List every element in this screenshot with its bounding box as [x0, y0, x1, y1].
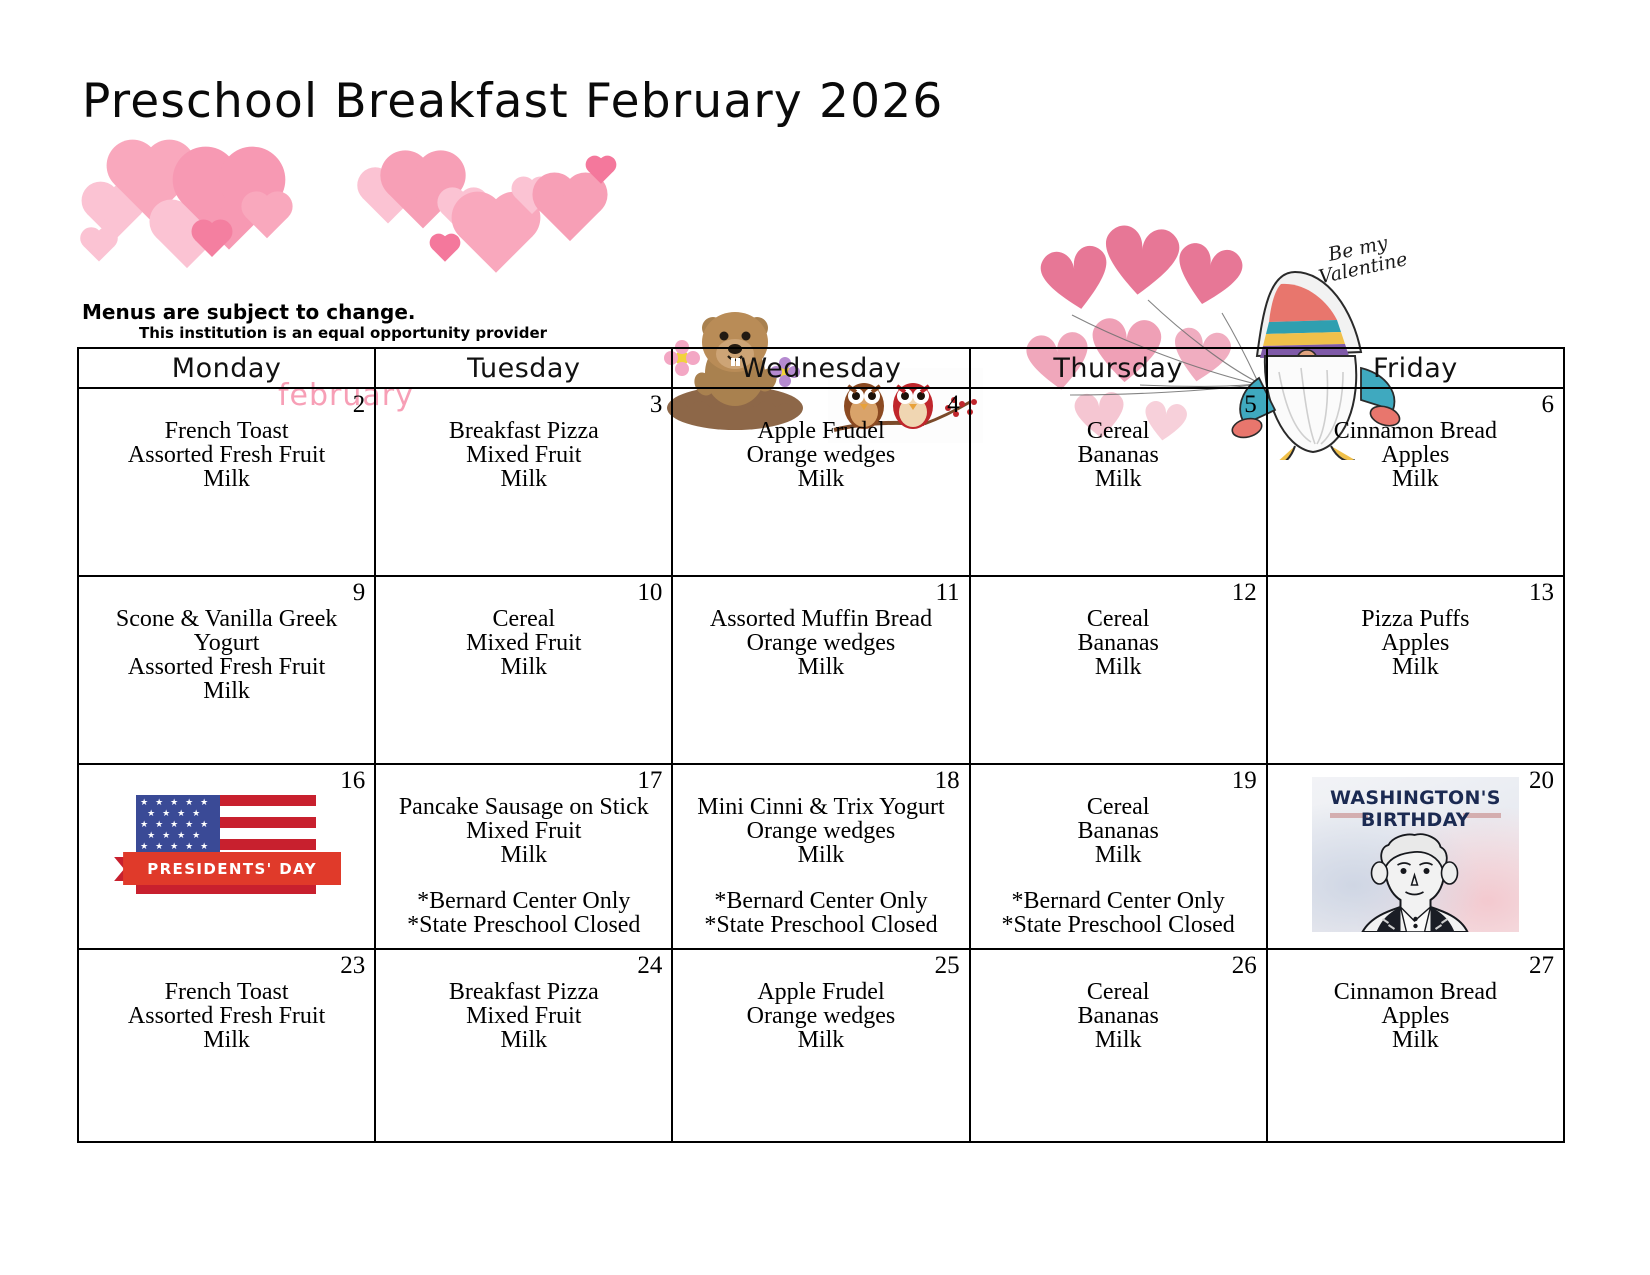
day-cell: 11 Assorted Muffin Bread Orange wedges M… — [672, 576, 969, 764]
column-header-thursday: Thursday — [970, 348, 1267, 388]
decorative-header-band: february — [0, 140, 1650, 300]
day-menu: Breakfast Pizza Mixed Fruit Milk — [384, 980, 663, 1052]
day-number: 9 — [353, 579, 366, 607]
day-menu: Assorted Muffin Bread Orange wedges Milk — [681, 607, 960, 679]
day-menu: French Toast Assorted Fresh Fruit Milk — [87, 419, 366, 491]
day-number: 10 — [637, 579, 662, 607]
calendar-header-row: Monday Tuesday Wednesday Thursday Friday — [78, 348, 1564, 388]
washington-title-line-1: WASHINGTON'S — [1330, 787, 1501, 809]
column-header-wednesday: Wednesday — [672, 348, 969, 388]
page-title: Preschool Breakfast February 2026 — [82, 74, 943, 129]
menus-subject-to-change-notice: Menus are subject to change. — [82, 300, 416, 324]
day-cell: 9 Scone & Vanilla Greek Yogurt Assorted … — [78, 576, 375, 764]
day-number: 18 — [935, 767, 960, 795]
day-number: 19 — [1232, 767, 1257, 795]
day-menu: Cereal Bananas Milk — [979, 419, 1258, 491]
day-number: 3 — [650, 391, 663, 419]
calendar-week-row: 9 Scone & Vanilla Greek Yogurt Assorted … — [78, 576, 1564, 764]
day-cell: 19 Cereal Bananas Milk *Bernard Center O… — [970, 764, 1267, 949]
day-number: 24 — [637, 952, 662, 980]
day-cell: 20 WASHINGTON'S BIRTHDAY — [1267, 764, 1564, 949]
menu-calendar-table: Monday Tuesday Wednesday Thursday Friday… — [77, 347, 1565, 1143]
notice-row: Menus are subject to change. This instit… — [82, 300, 842, 343]
washingtons-birthday-graphic: WASHINGTON'S BIRTHDAY — [1312, 777, 1519, 932]
day-number: 27 — [1529, 952, 1554, 980]
day-menu: Cereal Bananas Milk — [979, 795, 1258, 867]
day-menu: Apple Frudel Orange wedges Milk — [681, 419, 960, 491]
day-menu: Cinnamon Bread Apples Milk — [1276, 980, 1555, 1052]
day-number: 26 — [1232, 952, 1257, 980]
day-number: 23 — [340, 952, 365, 980]
equal-opportunity-notice: This institution is an equal opportunity… — [139, 324, 547, 342]
day-menu: Apple Frudel Orange wedges Milk — [681, 980, 960, 1052]
day-cell: 24 Breakfast Pizza Mixed Fruit Milk — [375, 949, 672, 1142]
day-cell: 12 Cereal Bananas Milk — [970, 576, 1267, 764]
day-menu: Cinnamon Bread Apples Milk — [1276, 419, 1555, 491]
day-number: 12 — [1232, 579, 1257, 607]
day-menu: Cereal Bananas Milk — [979, 980, 1258, 1052]
column-header-tuesday: Tuesday — [375, 348, 672, 388]
day-number: 2 — [353, 391, 366, 419]
day-cell: 16 ★★ ★★ ★ ★★ — [78, 764, 375, 949]
day-notes: *Bernard Center Only *State Preschool Cl… — [384, 889, 663, 937]
day-cell: 2 French Toast Assorted Fresh Fruit Milk — [78, 388, 375, 576]
day-cell: 25 Apple Frudel Orange wedges Milk — [672, 949, 969, 1142]
us-flag-icon: ★★ ★★ ★ ★★ ★★ ★★ ★★ ★ ★★ ★★ ★★ — [136, 795, 316, 891]
george-washington-portrait-icon — [1353, 829, 1478, 932]
day-cell: 5 Cereal Bananas Milk — [970, 388, 1267, 576]
day-cell: 3 Breakfast Pizza Mixed Fruit Milk — [375, 388, 672, 576]
calendar-week-row: 23 French Toast Assorted Fresh Fruit Mil… — [78, 949, 1564, 1142]
day-cell: 6 Cinnamon Bread Apples Milk — [1267, 388, 1564, 576]
column-header-monday: Monday — [78, 348, 375, 388]
day-cell: 26 Cereal Bananas Milk — [970, 949, 1267, 1142]
flag-canton: ★★ ★★ ★ ★★ ★★ ★★ ★★ ★ ★★ ★★ ★★ — [136, 795, 220, 852]
day-menu: Cereal Bananas Milk — [979, 607, 1258, 679]
day-cell: 27 Cinnamon Bread Apples Milk — [1267, 949, 1564, 1142]
day-menu: Scone & Vanilla Greek Yogurt Assorted Fr… — [87, 607, 366, 703]
day-number: 25 — [935, 952, 960, 980]
day-cell: 10 Cereal Mixed Fruit Milk — [375, 576, 672, 764]
day-number: 13 — [1529, 579, 1554, 607]
day-number: 11 — [935, 579, 959, 607]
presidents-day-banner-text: PRESIDENTS' DAY — [123, 852, 341, 885]
day-number: 16 — [340, 767, 365, 795]
day-number: 6 — [1542, 391, 1555, 419]
calendar-week-row: 2 French Toast Assorted Fresh Fruit Milk… — [78, 388, 1564, 576]
day-menu: Pizza Puffs Apples Milk — [1276, 607, 1555, 679]
day-menu: Pancake Sausage on Stick Mixed Fruit Mil… — [384, 795, 663, 867]
day-number: 4 — [947, 391, 960, 419]
day-number: 5 — [1244, 391, 1257, 419]
menu-document: Preschool Breakfast February 2026 februa… — [0, 0, 1650, 1275]
day-cell: 13 Pizza Puffs Apples Milk — [1267, 576, 1564, 764]
day-menu: Mini Cinni & Trix Yogurt Orange wedges M… — [681, 795, 960, 867]
day-menu: French Toast Assorted Fresh Fruit Milk — [87, 980, 366, 1052]
presidents-day-graphic: ★★ ★★ ★ ★★ ★★ ★★ ★★ ★ ★★ ★★ ★★ — [119, 791, 334, 909]
calendar-week-row: 16 ★★ ★★ ★ ★★ — [78, 764, 1564, 949]
day-cell: 23 French Toast Assorted Fresh Fruit Mil… — [78, 949, 375, 1142]
day-cell: 4 Apple Frudel Orange wedges Milk — [672, 388, 969, 576]
day-cell: 17 Pancake Sausage on Stick Mixed Fruit … — [375, 764, 672, 949]
day-number: 20 — [1529, 767, 1554, 795]
day-menu: Cereal Mixed Fruit Milk — [384, 607, 663, 679]
day-notes: *Bernard Center Only *State Preschool Cl… — [681, 889, 960, 937]
day-cell: 18 Mini Cinni & Trix Yogurt Orange wedge… — [672, 764, 969, 949]
washingtons-birthday-title: WASHINGTON'S BIRTHDAY — [1312, 787, 1519, 832]
day-notes: *Bernard Center Only *State Preschool Cl… — [979, 889, 1258, 937]
day-number: 17 — [637, 767, 662, 795]
column-header-friday: Friday — [1267, 348, 1564, 388]
day-menu: Breakfast Pizza Mixed Fruit Milk — [384, 419, 663, 491]
